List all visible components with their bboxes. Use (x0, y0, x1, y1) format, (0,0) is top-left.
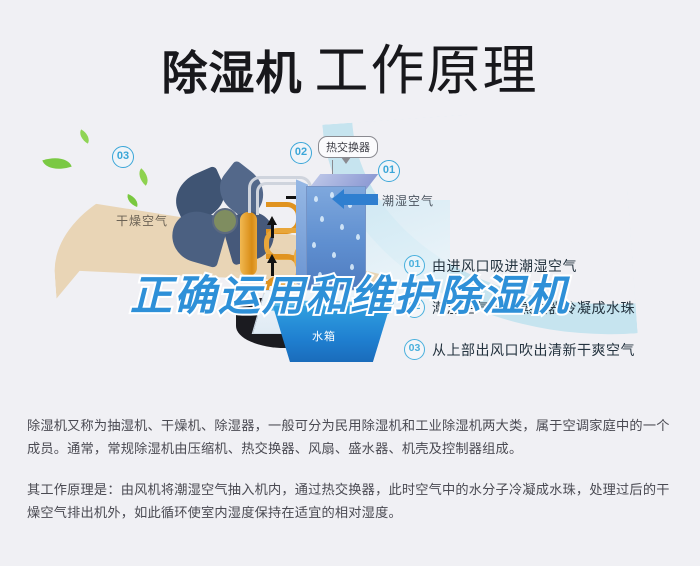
overlay-headline: 正确运用和维护除湿机 (0, 262, 700, 323)
leaf-icon (42, 152, 71, 174)
page-title: 除湿机工作原理 (0, 26, 700, 105)
water-tank-label: 水箱 (312, 328, 336, 344)
step-text: 从上部出风口吹出清新干爽空气 (432, 340, 635, 360)
body-paragraph-1: 除湿机又称为抽湿机、干燥机、除湿器，一般可分为民用除湿机和工业除湿机两大类，属于… (27, 414, 675, 460)
fan-hub (212, 208, 238, 234)
intake-arrow-icon (344, 194, 378, 205)
leaf-icon (135, 168, 153, 185)
diagram-badge-03: 03 (112, 146, 134, 168)
body-paragraph-2: 其工作原理是：由风机将潮湿空气抽入机内，通过热交换器，此时空气中的水分子冷凝成水… (27, 478, 675, 524)
title-part1: 除湿机 (162, 47, 303, 99)
humid-air-label: 潮湿空气 (382, 192, 434, 209)
dry-air-label: 干燥空气 (116, 212, 168, 229)
leaf-icon (125, 194, 140, 207)
step-number: 03 (404, 339, 425, 360)
list-item: 03 从上部出风口吹出清新干爽空气 (404, 339, 694, 360)
diagram-badge-02: 02 (290, 142, 312, 164)
heat-exchanger-callout: 热交换器 (318, 136, 378, 158)
poster-root: 除湿机工作原理 干燥空气 03 02 01 热交换器 (0, 0, 700, 566)
flow-arrow-up-icon (267, 216, 277, 225)
leaf-icon (77, 129, 93, 143)
title-part2: 工作原理 (315, 41, 539, 101)
flow-arrow-stem (271, 224, 274, 238)
body-copy: 除湿机又称为抽湿机、干燥机、除湿器，一般可分为民用除湿机和工业除湿机两大类，属于… (27, 414, 675, 524)
diagram-badge-01: 01 (378, 160, 400, 182)
